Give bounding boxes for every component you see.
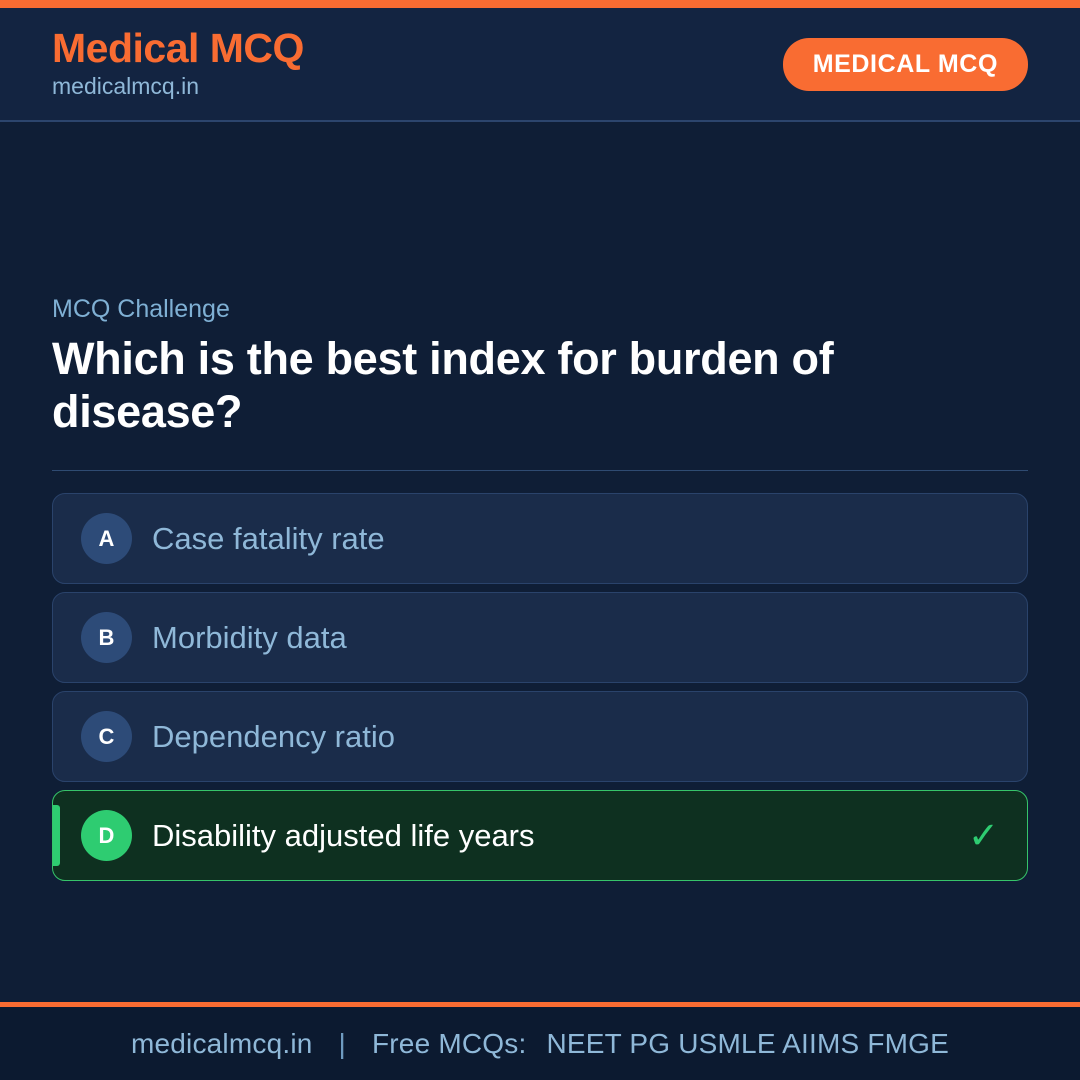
brand-subtitle: medicalmcq.in xyxy=(52,72,304,102)
option-label: Dependency ratio xyxy=(152,718,983,755)
footer-separator: | xyxy=(321,1028,364,1059)
brand-title: Medical MCQ xyxy=(52,27,304,70)
footer-exams: NEET PG USMLE AIIMS FMGE xyxy=(534,1028,949,1059)
footer-prefix: Free MCQs: xyxy=(372,1028,526,1059)
option-item-c[interactable]: C Dependency ratio xyxy=(52,691,1028,782)
option-label: Case fatality rate xyxy=(152,520,983,557)
check-icon: ✓ xyxy=(968,817,999,854)
option-letter-badge: D xyxy=(81,810,132,861)
correct-accent-bar xyxy=(53,805,60,866)
option-label: Morbidity data xyxy=(152,619,983,656)
option-label: Disability adjusted life years xyxy=(152,817,952,854)
footer-text-row: medicalmcq.in | Free MCQs: NEET PG USMLE… xyxy=(131,1028,949,1060)
question-text: Which is the best index for burden of di… xyxy=(52,332,882,438)
eyebrow-label: MCQ Challenge xyxy=(52,294,1028,324)
bottom-spacer xyxy=(52,881,1028,1002)
header-badge[interactable]: MEDICAL MCQ xyxy=(783,38,1028,91)
options-list: A Case fatality rate B Morbidity data C … xyxy=(52,493,1028,881)
top-spacer xyxy=(52,122,1028,294)
top-accent-bar xyxy=(0,0,1080,8)
option-letter-badge: A xyxy=(81,513,132,564)
footer-site[interactable]: medicalmcq.in xyxy=(131,1028,313,1059)
page-footer: medicalmcq.in | Free MCQs: NEET PG USMLE… xyxy=(0,1002,1080,1080)
option-letter-badge: B xyxy=(81,612,132,663)
option-item-b[interactable]: B Morbidity data xyxy=(52,592,1028,683)
main-content: MCQ Challenge Which is the best index fo… xyxy=(0,122,1080,1002)
option-item-d[interactable]: D Disability adjusted life years ✓ xyxy=(52,790,1028,881)
option-item-a[interactable]: A Case fatality rate xyxy=(52,493,1028,584)
brand-block: Medical MCQ medicalmcq.in xyxy=(52,27,304,102)
option-letter-badge: C xyxy=(81,711,132,762)
question-divider xyxy=(52,470,1028,471)
page-header: Medical MCQ medicalmcq.in MEDICAL MCQ xyxy=(0,8,1080,122)
